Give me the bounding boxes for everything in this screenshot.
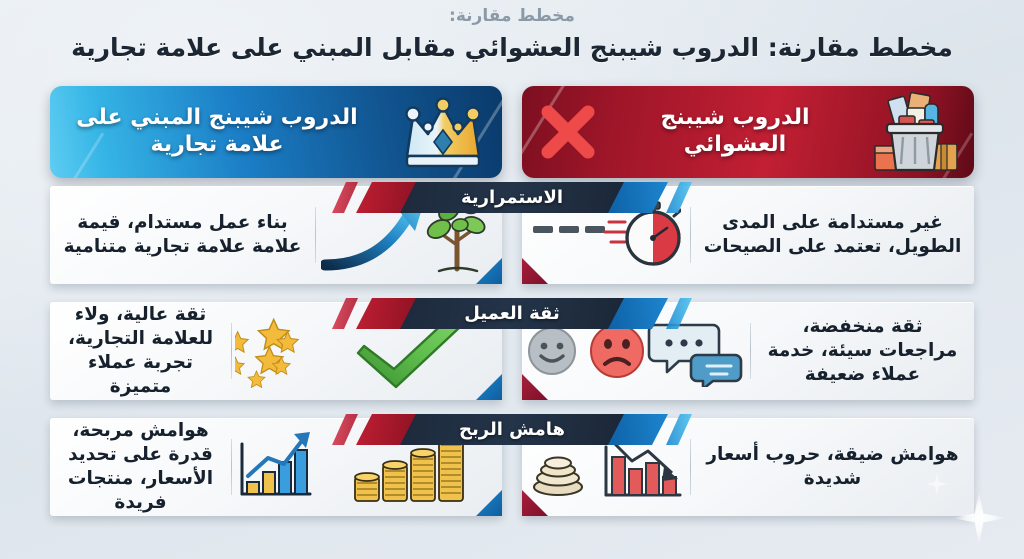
card-divider bbox=[750, 323, 751, 379]
card-divider bbox=[315, 207, 316, 263]
comparison-board: الدروب شيبنج العشوائي bbox=[0, 86, 1024, 526]
rising-bar-chart-icon bbox=[232, 418, 316, 516]
x-mark-icon bbox=[522, 101, 614, 163]
header-row: الدروب شيبنج العشوائي bbox=[0, 86, 1024, 178]
dashes-icon bbox=[533, 226, 605, 233]
row-1-bad-text: غير مستدامة على المدى الطويل، تعتمد على … bbox=[691, 211, 974, 259]
card-divider bbox=[231, 439, 232, 495]
row-3-bad-text: هوامش ضيقة، حروب أسعار شديدة bbox=[691, 443, 974, 491]
row-2-bad-text: ثقة منخفضة، مراجعات سيئة، خدمة عملاء ضعي… bbox=[751, 315, 974, 387]
page-title: مخطط مقارنة: الدروب شيبنج العشوائي مقابل… bbox=[0, 33, 1024, 62]
row-2-banner: ثقة العميل bbox=[400, 298, 624, 329]
card-divider bbox=[690, 439, 691, 495]
chat-bubbles-icon bbox=[649, 325, 741, 387]
card-divider bbox=[231, 323, 232, 379]
row-1-banner: الاستمرارية bbox=[400, 182, 624, 213]
row-3-banner: هامش الربح bbox=[400, 414, 624, 445]
header-card-good-label: الدروب شيبنج المبني على علامة تجارية bbox=[50, 105, 384, 159]
row-1-banner-label: الاستمرارية bbox=[441, 187, 583, 208]
row-2-good-text: ثقة عالية، ولاء للعلامة التجارية، تجربة … bbox=[50, 303, 231, 399]
row-3-banner-label: هامش الربح bbox=[439, 419, 585, 440]
five-stars-icon bbox=[232, 302, 316, 400]
row-1-good-text: بناء عمل مستدام، قيمة علامة علامة تجارية… bbox=[50, 211, 315, 259]
row-3-good-text: هوامش مربحة، قدرة على تحديد الأسعار، منت… bbox=[50, 419, 231, 515]
header-card-bad[interactable]: الدروب شيبنج العشوائي bbox=[522, 86, 974, 178]
neutral-face-icon bbox=[526, 325, 578, 377]
header-card-bad-label: الدروب شيبنج العشوائي bbox=[614, 105, 856, 159]
row-2-banner-label: ثقة العميل bbox=[444, 303, 579, 324]
comparison-row-2: ثقة منخفضة، مراجعات سيئة، خدمة عملاء ضعي… bbox=[0, 302, 1024, 410]
card-divider bbox=[690, 207, 691, 263]
sad-face-icon bbox=[591, 325, 643, 377]
comparison-row-1: غير مستدامة على المدى الطويل، تعتمد على … bbox=[0, 186, 1024, 294]
comparison-row-3: هوامش ضيقة، حروب أسعار شديدة bbox=[0, 418, 1024, 526]
trash-bin-icon bbox=[856, 86, 974, 178]
declining-bar-chart-icon bbox=[606, 441, 680, 495]
coin-stack-small-icon bbox=[534, 458, 582, 496]
page-kicker: مخطط مقارنة: bbox=[0, 6, 1024, 26]
header-card-good[interactable]: الدروب شيبنج المبني على علامة تجارية bbox=[50, 86, 502, 178]
title-block: مخطط مقارنة: مخطط مقارنة: الدروب شيبنج ا… bbox=[0, 0, 1024, 62]
crown-icon bbox=[384, 86, 502, 178]
